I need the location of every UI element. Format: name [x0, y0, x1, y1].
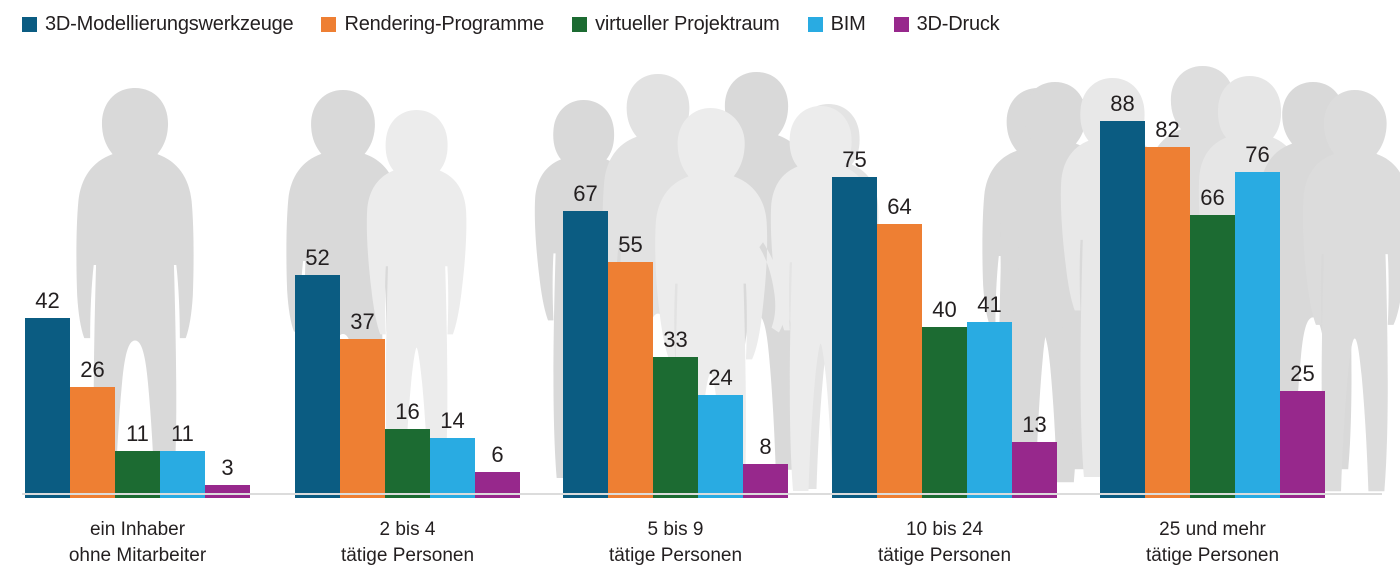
bar-slot: 13	[1012, 63, 1057, 498]
bar-slot: 33	[653, 63, 698, 498]
legend-swatch-icon	[321, 17, 336, 32]
bar-slot: 76	[1235, 63, 1280, 498]
bar[interactable]	[295, 275, 340, 498]
bar-value-label: 11	[126, 423, 149, 445]
bar-slot: 8	[743, 63, 788, 498]
bar-value-label: 64	[887, 196, 911, 218]
bar[interactable]	[698, 395, 743, 498]
bar-slot: 55	[608, 63, 653, 498]
bar-value-label: 25	[1290, 363, 1314, 385]
bar-slot: 3	[205, 63, 250, 498]
bar-group-0: 422611113	[25, 63, 250, 498]
bar-slot: 14	[430, 63, 475, 498]
category-axis: ein Inhaberohne Mitarbeiter2 bis 4tätige…	[0, 505, 1400, 565]
bar-group-1: 523716146	[295, 63, 520, 498]
bar-value-label: 66	[1200, 187, 1224, 209]
bar-slot: 52	[295, 63, 340, 498]
bar-slot: 64	[877, 63, 922, 498]
legend-swatch-icon	[572, 17, 587, 32]
legend-label: virtueller Projektraum	[595, 13, 780, 36]
legend-label: Rendering-Programme	[344, 13, 544, 36]
bar-value-label: 75	[842, 149, 866, 171]
bar[interactable]	[967, 322, 1012, 498]
bar-slot: 11	[115, 63, 160, 498]
legend-item-3[interactable]: BIM	[808, 13, 866, 36]
legend-swatch-icon	[808, 17, 823, 32]
bar-group-2: 675533248	[563, 63, 788, 498]
bar-value-label: 37	[350, 311, 374, 333]
bar-value-label: 55	[618, 234, 642, 256]
category-label-3: 10 bis 24tätige Personen	[878, 517, 1011, 568]
bar-slot: 40	[922, 63, 967, 498]
legend-label: 3D-Druck	[917, 13, 1000, 36]
category-label-line1: ein Inhaber	[69, 517, 206, 543]
category-label-line2: tätige Personen	[878, 543, 1011, 569]
bar[interactable]	[115, 451, 160, 498]
bar-slot: 41	[967, 63, 1012, 498]
bar-chart: 3D-ModellierungswerkzeugeRendering-Progr…	[0, 0, 1400, 571]
chart-legend: 3D-ModellierungswerkzeugeRendering-Progr…	[22, 12, 999, 36]
bar[interactable]	[340, 339, 385, 498]
bar-slot: 25	[1280, 63, 1325, 498]
category-label-line2: tätige Personen	[341, 543, 474, 569]
legend-label: BIM	[831, 13, 866, 36]
bar-slot: 66	[1190, 63, 1235, 498]
bar-value-label: 6	[491, 444, 503, 466]
category-label-line1: 2 bis 4	[341, 517, 474, 543]
bar[interactable]	[563, 211, 608, 498]
category-label-1: 2 bis 4tätige Personen	[341, 517, 474, 568]
bar-slot: 11	[160, 63, 205, 498]
bar[interactable]	[922, 327, 967, 498]
bar[interactable]	[877, 224, 922, 498]
bar-value-label: 26	[80, 359, 104, 381]
bar-slot: 37	[340, 63, 385, 498]
bar-group-3: 7564404113	[832, 63, 1057, 498]
bar[interactable]	[1145, 147, 1190, 498]
bar[interactable]	[70, 387, 115, 498]
category-label-line2: tätige Personen	[1146, 543, 1279, 569]
bar-slot: 67	[563, 63, 608, 498]
bar-value-label: 8	[759, 436, 771, 458]
bar-value-label: 11	[171, 423, 194, 445]
bar-slot: 88	[1100, 63, 1145, 498]
bar[interactable]	[430, 438, 475, 498]
bar-value-label: 40	[932, 299, 956, 321]
legend-item-0[interactable]: 3D-Modellierungswerkzeuge	[22, 13, 293, 36]
legend-item-1[interactable]: Rendering-Programme	[321, 13, 544, 36]
category-label-line1: 25 und mehr	[1146, 517, 1279, 543]
bar[interactable]	[1280, 391, 1325, 498]
category-label-line1: 10 bis 24	[878, 517, 1011, 543]
bar[interactable]	[608, 262, 653, 498]
bar-slot: 6	[475, 63, 520, 498]
category-label-line2: ohne Mitarbeiter	[69, 543, 206, 569]
legend-item-2[interactable]: virtueller Projektraum	[572, 13, 780, 36]
bar[interactable]	[1012, 442, 1057, 498]
category-label-0: ein Inhaberohne Mitarbeiter	[69, 517, 206, 568]
bar[interactable]	[1100, 121, 1145, 498]
legend-item-4[interactable]: 3D-Druck	[894, 13, 1000, 36]
bar-value-label: 52	[305, 247, 329, 269]
bar[interactable]	[25, 318, 70, 498]
bar-value-label: 16	[395, 401, 419, 423]
category-label-2: 5 bis 9tätige Personen	[609, 517, 742, 568]
bar-value-label: 3	[221, 457, 233, 479]
bar-value-label: 24	[708, 367, 732, 389]
bar-value-label: 42	[35, 290, 59, 312]
bar[interactable]	[653, 357, 698, 498]
category-label-line2: tätige Personen	[609, 543, 742, 569]
plot-area: 4226111135237161466755332487564404113888…	[0, 58, 1400, 498]
bar-slot: 82	[1145, 63, 1190, 498]
bar-value-label: 82	[1155, 119, 1179, 141]
bar-slot: 16	[385, 63, 430, 498]
bar[interactable]	[160, 451, 205, 498]
bar-slot: 24	[698, 63, 743, 498]
bar-slot: 42	[25, 63, 70, 498]
category-label-line1: 5 bis 9	[609, 517, 742, 543]
bar-slot: 75	[832, 63, 877, 498]
bar-slot: 26	[70, 63, 115, 498]
bar-value-label: 14	[440, 410, 464, 432]
axis-baseline	[22, 493, 1382, 495]
bar-value-label: 76	[1245, 144, 1269, 166]
bar[interactable]	[832, 177, 877, 498]
legend-swatch-icon	[22, 17, 37, 32]
bar[interactable]	[205, 485, 250, 498]
bar-group-4: 8882667625	[1100, 63, 1325, 498]
category-label-4: 25 und mehrtätige Personen	[1146, 517, 1279, 568]
bar[interactable]	[385, 429, 430, 498]
bar-value-label: 41	[977, 294, 1001, 316]
bar[interactable]	[1190, 215, 1235, 498]
legend-swatch-icon	[894, 17, 909, 32]
bar-value-label: 33	[663, 329, 687, 351]
bar-value-label: 88	[1110, 93, 1134, 115]
bar[interactable]	[1235, 172, 1280, 498]
bar-value-label: 13	[1022, 414, 1046, 436]
legend-label: 3D-Modellierungswerkzeuge	[45, 13, 293, 36]
bar-value-label: 67	[573, 183, 597, 205]
